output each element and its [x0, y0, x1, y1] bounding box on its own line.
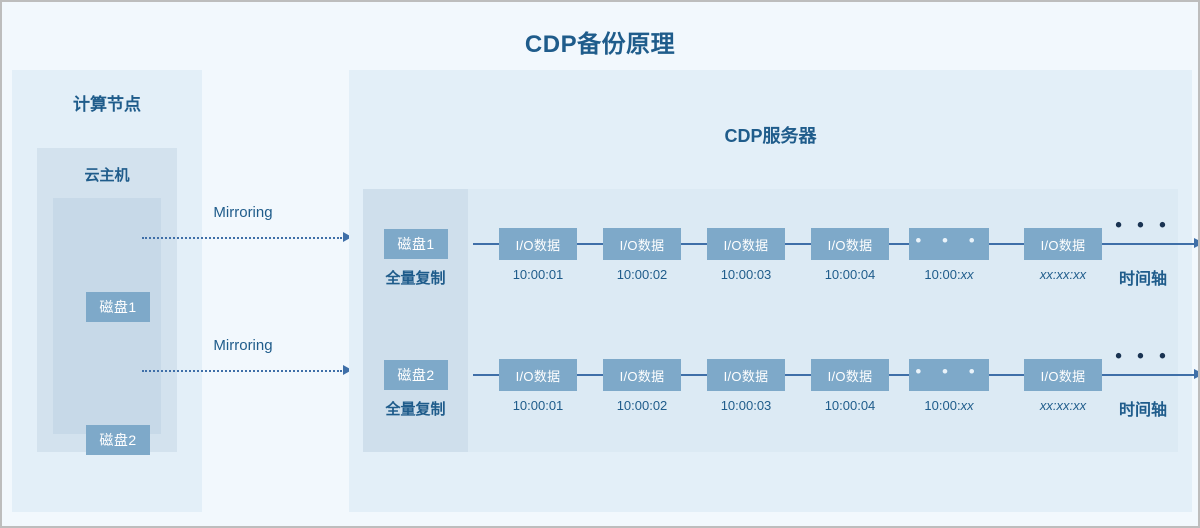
io-data-box: I/O数据 [811, 359, 889, 391]
io-timestamp: 10:00:02 [603, 267, 681, 282]
cdp-server-title: CDP服务器 [349, 122, 1192, 148]
timeline-row-1: 磁盘1 全量复制 • • • 时间轴 I/O数据10:00:01I/O数据10:… [363, 211, 1178, 311]
io-timestamp: 10:00:01 [499, 267, 577, 282]
timeline-axis-label-2: 时间轴 [1103, 396, 1183, 420]
compute-node-panel: 计算节点 云主机 磁盘1 磁盘2 [12, 70, 202, 512]
io-data-box: I/O数据 [707, 359, 785, 391]
io-ellipsis-box: • • • [909, 359, 989, 391]
io-data-box: I/O数据 [603, 359, 681, 391]
io-timestamp: xx:xx:xx [1024, 267, 1102, 282]
cdp-disk-2-chip: 磁盘2 [384, 360, 448, 390]
mirroring-label-2: Mirroring [142, 337, 344, 354]
full-replication-label-2: 全量复制 [363, 398, 468, 419]
cdp-data-panel: 磁盘1 全量复制 • • • 时间轴 I/O数据10:00:01I/O数据10:… [363, 189, 1178, 452]
io-timestamp: xx:xx:xx [1024, 398, 1102, 413]
cdp-server-panel: CDP服务器 磁盘1 全量复制 • • • 时间轴 I/O数据10:00:01I… [349, 70, 1192, 512]
full-replication-label-1: 全量复制 [363, 267, 468, 288]
host-disk-2-chip: 磁盘2 [86, 425, 150, 455]
cloud-host-title: 云主机 [37, 164, 177, 185]
page-title: CDP备份原理 [2, 24, 1198, 59]
io-timestamp: 10:00:04 [811, 398, 889, 413]
host-disk-1-chip: 磁盘1 [86, 292, 150, 322]
io-timestamp: 10:00:01 [499, 398, 577, 413]
io-data-box: I/O数据 [499, 228, 577, 260]
io-timestamp: 10:00:02 [603, 398, 681, 413]
io-data-box: I/O数据 [1024, 359, 1102, 391]
mirroring-label-1: Mirroring [142, 204, 344, 221]
timeline-arrowhead-icon-2 [1194, 369, 1200, 379]
io-timestamp: 10:00:04 [811, 267, 889, 282]
io-timestamp: 10:00:03 [707, 267, 785, 282]
timeline-tail-dots-2: • • • [1108, 346, 1178, 368]
io-data-box: I/O数据 [811, 228, 889, 260]
io-data-box: I/O数据 [1024, 228, 1102, 260]
timeline-tail-dots-1: • • • [1108, 215, 1178, 237]
io-timestamp: 10:00:03 [707, 398, 785, 413]
cdp-disk-1-chip: 磁盘1 [384, 229, 448, 259]
io-data-box: I/O数据 [603, 228, 681, 260]
timeline-arrowhead-icon-1 [1194, 238, 1200, 248]
compute-node-title: 计算节点 [12, 90, 202, 115]
mirroring-connector-1: Mirroring [142, 204, 352, 248]
diagram-canvas: CDP备份原理 计算节点 云主机 磁盘1 磁盘2 Mirroring Mirro… [0, 0, 1200, 528]
io-timestamp: 10:00:xx [909, 398, 989, 413]
mirroring-connector-2: Mirroring [142, 337, 352, 381]
timeline-axis-label-1: 时间轴 [1103, 265, 1183, 289]
timeline-row-2: 磁盘2 全量复制 • • • 时间轴 I/O数据10:00:01I/O数据10:… [363, 342, 1178, 442]
io-timestamp: 10:00:xx [909, 267, 989, 282]
io-ellipsis-box: • • • [909, 228, 989, 260]
mirroring-dotted-line-1 [142, 237, 342, 239]
io-data-box: I/O数据 [499, 359, 577, 391]
mirroring-dotted-line-2 [142, 370, 342, 372]
io-data-box: I/O数据 [707, 228, 785, 260]
